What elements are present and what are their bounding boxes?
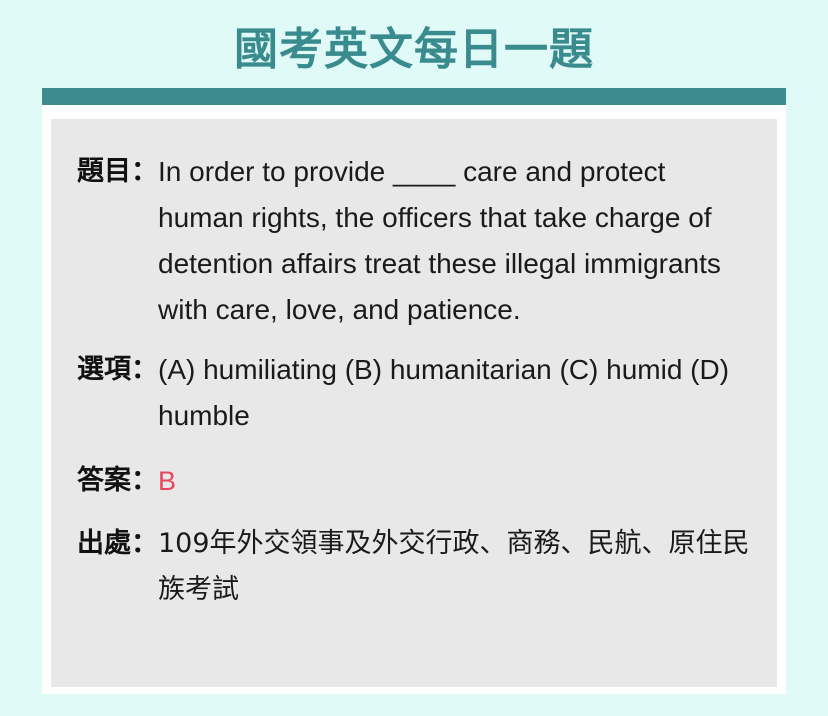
quiz-card: 題目： In order to provide ____ care and pr…	[51, 119, 777, 687]
title-container: 國考英文每日一題	[0, 26, 828, 74]
accent-bar	[42, 88, 786, 105]
options-text: (A) humiliating (B) humanitarian (C) hum…	[158, 347, 753, 439]
question-row: 題目： In order to provide ____ care and pr…	[77, 149, 753, 333]
content-container: 題目： In order to provide ____ care and pr…	[42, 105, 786, 694]
page-title: 國考英文每日一題	[234, 26, 594, 74]
poster-page: 國考英文每日一題 題目： In order to provide ____ ca…	[0, 0, 828, 716]
answer-label: 答案：	[77, 461, 158, 501]
answer-value: B	[158, 461, 753, 501]
options-label: 選項：	[77, 347, 158, 393]
source-label: 出處：	[77, 521, 158, 567]
options-row: 選項： (A) humiliating (B) humanitarian (C)…	[77, 347, 753, 439]
question-label: 題目：	[77, 149, 158, 195]
answer-row: 答案： B	[77, 461, 753, 501]
source-text: 109年外交領事及外交行政、商務、民航、原住民族考試	[158, 521, 753, 613]
source-row: 出處： 109年外交領事及外交行政、商務、民航、原住民族考試	[77, 521, 753, 613]
question-text: In order to provide ____ care and protec…	[158, 149, 753, 333]
